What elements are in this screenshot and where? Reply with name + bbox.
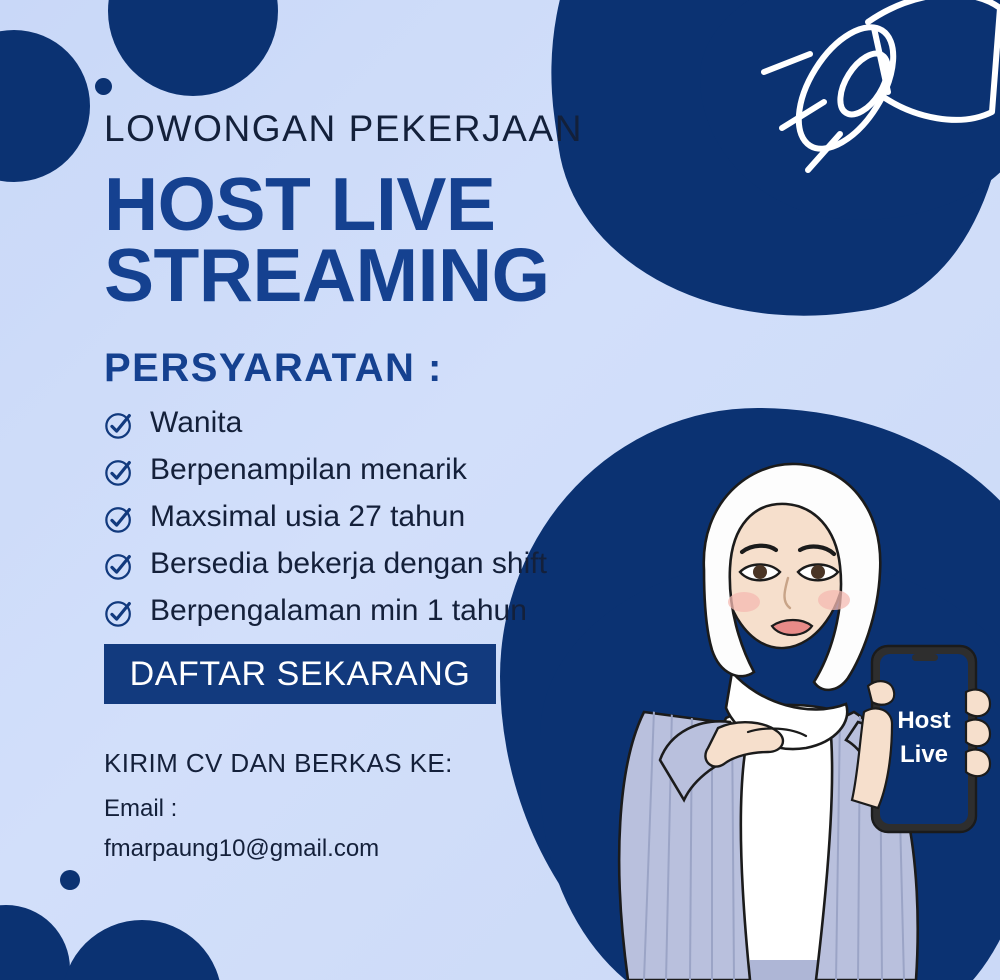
requirements-title: PERSYARATAN : [104, 346, 640, 391]
check-circle-icon [104, 551, 134, 581]
page-title: HOST LIVE STREAMING [104, 169, 640, 312]
check-circle-icon [104, 598, 134, 628]
woman-with-phone-illustration: Host Live [600, 460, 1000, 980]
job-vacancy-poster: LOWONGAN PEKERJAAN HOST LIVE STREAMING P… [0, 0, 1000, 980]
requirement-label: Wanita [150, 405, 242, 440]
decorative-circle-bottom-left [0, 905, 70, 980]
decorative-dot-bottom [60, 870, 80, 890]
headline-line-1: HOST LIVE [104, 169, 640, 240]
cheek-left [728, 592, 760, 612]
check-circle-icon [104, 457, 134, 487]
phone-screen-line-2: Live [900, 741, 948, 768]
decorative-circle-bottom [62, 920, 222, 980]
list-item: Maxsimal usia 27 tahun [104, 499, 640, 534]
list-item: Berpengalaman min 1 tahun [104, 593, 640, 628]
requirements-list: Wanita Berpenampilan menarik Maxsimal us… [104, 405, 640, 628]
requirement-label: Bersedia bekerja dengan shift [150, 546, 547, 581]
requirement-label: Berpenampilan menarik [150, 452, 467, 487]
list-item: Wanita [104, 405, 640, 440]
requirement-label: Maxsimal usia 27 tahun [150, 499, 465, 534]
send-cv-label: KIRIM CV DAN BERKAS KE: [104, 748, 640, 779]
list-item: Berpenampilan menarik [104, 452, 640, 487]
poster-content: LOWONGAN PEKERJAAN HOST LIVE STREAMING P… [0, 0, 640, 863]
daftar-sekarang-button[interactable]: DAFTAR SEKARANG [104, 644, 496, 704]
headline-line-2: STREAMING [104, 240, 640, 311]
check-circle-icon [104, 504, 134, 534]
phone-screen-line-1: Host [897, 707, 950, 734]
email-label: Email : [104, 795, 640, 823]
eyebrow-text: LOWONGAN PEKERJAAN [104, 110, 640, 147]
megaphone-icon [746, 0, 1000, 222]
email-value[interactable]: fmarpaung10@gmail.com [104, 835, 640, 863]
list-item: Bersedia bekerja dengan shift [104, 546, 640, 581]
check-circle-icon [104, 410, 134, 440]
mouth [772, 620, 812, 635]
requirement-label: Berpengalaman min 1 tahun [150, 593, 527, 628]
cheek-right [818, 590, 850, 610]
